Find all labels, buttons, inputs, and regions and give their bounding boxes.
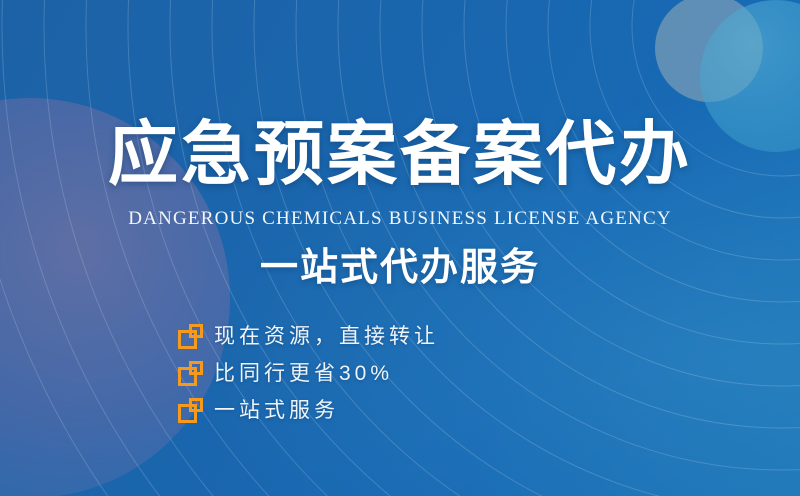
page-title: 应急预案备案代办 <box>0 114 800 194</box>
list-item-label: 比同行更省30% <box>214 361 393 387</box>
english-subtitle: DANGEROUS CHEMICALS BUSINESS LICENSE AGE… <box>0 207 800 231</box>
list-item: 一站式服务 <box>178 392 439 429</box>
overlapping-squares-icon <box>178 361 204 387</box>
list-item-label: 现在资源，直接转让 <box>214 324 439 350</box>
feature-list: 现在资源，直接转让 比同行更省30% 一站式服务 <box>178 318 439 429</box>
list-item: 比同行更省30% <box>178 355 439 392</box>
list-item: 现在资源，直接转让 <box>178 318 439 355</box>
banner-content: 应急预案备案代办 DANGEROUS CHEMICALS BUSINESS LI… <box>0 0 800 496</box>
overlapping-squares-icon <box>178 324 204 350</box>
promo-banner: 应急预案备案代办 DANGEROUS CHEMICALS BUSINESS LI… <box>0 0 800 496</box>
overlapping-squares-icon <box>178 398 204 424</box>
list-item-label: 一站式服务 <box>214 398 339 424</box>
service-subtitle: 一站式代办服务 <box>0 243 800 293</box>
